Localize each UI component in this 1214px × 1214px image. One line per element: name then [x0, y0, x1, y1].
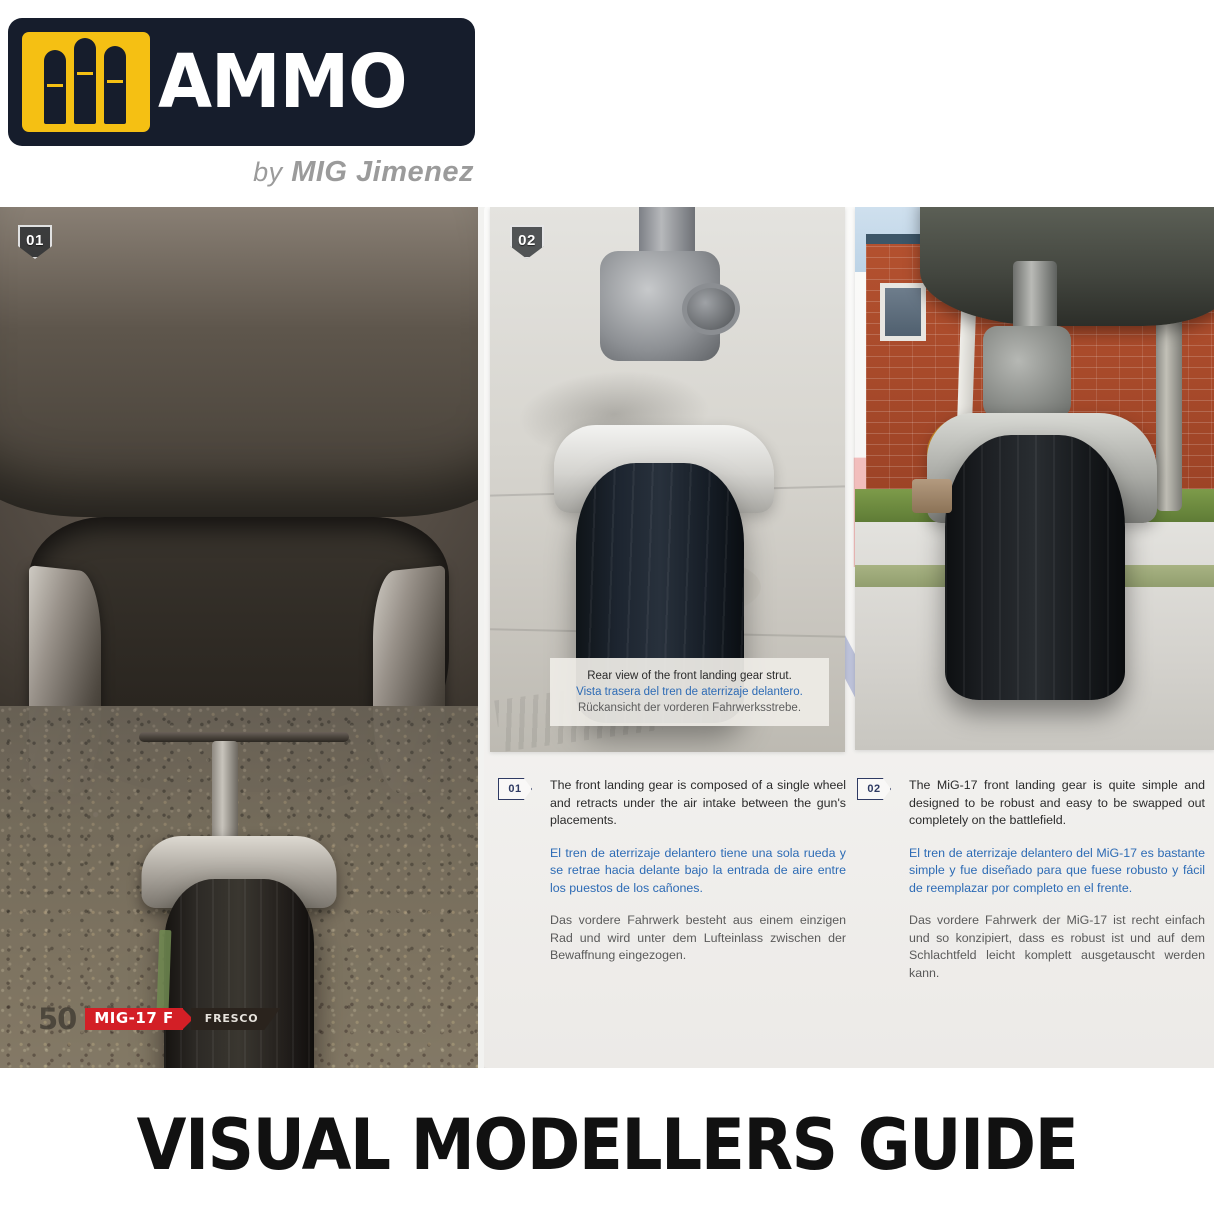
paragraph-de: Das vordere Fahrwerk der MiG-17 ist rech…: [909, 912, 1205, 982]
building-window: [880, 283, 926, 341]
wheel-chock: [912, 479, 952, 513]
left-page: 01 50 MIG-17 F FRESCO: [0, 207, 478, 1068]
bullet-icon-2: [74, 38, 96, 124]
paragraph-de: Das vordere Fahrwerk besteht aus einem e…: [550, 912, 846, 965]
ammo-logo-box: AMMO: [8, 18, 475, 146]
ammo-brand-header: AMMO by MIG Jimenez: [8, 18, 478, 193]
cross-axle: [139, 732, 349, 742]
caption-de: Rückansicht der vorderen Fahrwerksstrebe…: [578, 700, 801, 716]
tree-trunk: [1156, 316, 1182, 511]
text-column-02: 02 The MiG-17 front landing gear is quit…: [857, 777, 1205, 982]
paragraph-en: The front landing gear is composed of a …: [550, 777, 846, 830]
caption-en: Rear view of the front landing gear stru…: [587, 668, 792, 684]
photo-front-landing-gear-bay-underside: [0, 207, 478, 1068]
text-column-01: 01 The front landing gear is composed of…: [498, 777, 846, 965]
photo-front-landing-gear-rear-view: [855, 207, 1214, 750]
series-title: VISUAL MODELLERS GUIDE: [49, 1104, 1166, 1186]
page-number: 50: [38, 1002, 76, 1036]
bullet-icon-1: [44, 50, 66, 124]
caption-es: Vista trasera del tren de aterrizaje del…: [576, 684, 803, 700]
photo-caption-box: Rear view of the front landing gear stru…: [550, 658, 829, 726]
paragraph-es: El tren de aterrizaje delantero tiene un…: [550, 845, 846, 898]
brand-byline: by MIG Jimenez: [253, 156, 474, 189]
paragraph-es: El tren de aterrizaje delantero del MiG-…: [909, 845, 1205, 898]
nose-wheel-tire: [164, 879, 314, 1068]
byline-prefix: by: [253, 157, 283, 187]
ammo-wordmark: AMMO: [158, 38, 406, 126]
nato-codename-tag: FRESCO: [191, 1008, 281, 1030]
nose-wheel-tire: [945, 435, 1125, 700]
strut-housing: [983, 326, 1071, 418]
page-footer: 50 MIG-17 F FRESCO: [38, 1002, 280, 1036]
book-page-spread: 01 50 MIG-17 F FRESCO HOBBY LINKS: [0, 207, 1214, 1068]
product-image: AMMO by MIG Jimenez 01: [0, 0, 1214, 1214]
text-badge-02: 02: [857, 778, 891, 800]
paragraph-en: The MiG-17 front landing gear is quite s…: [909, 777, 1205, 830]
byline-name: MIG Jimenez: [291, 156, 474, 188]
bullets-icon: [22, 32, 150, 132]
aircraft-underside: [920, 207, 1214, 326]
model-tag: MIG-17 F: [85, 1008, 182, 1030]
text-badge-01: 01: [498, 778, 532, 800]
fuselage-underside: [0, 207, 478, 517]
pivot-joint: [682, 283, 740, 335]
right-page: HOBBY LINKS 02: [484, 207, 1214, 1068]
bullet-icon-3: [104, 46, 126, 124]
green-marking: [156, 930, 171, 1010]
